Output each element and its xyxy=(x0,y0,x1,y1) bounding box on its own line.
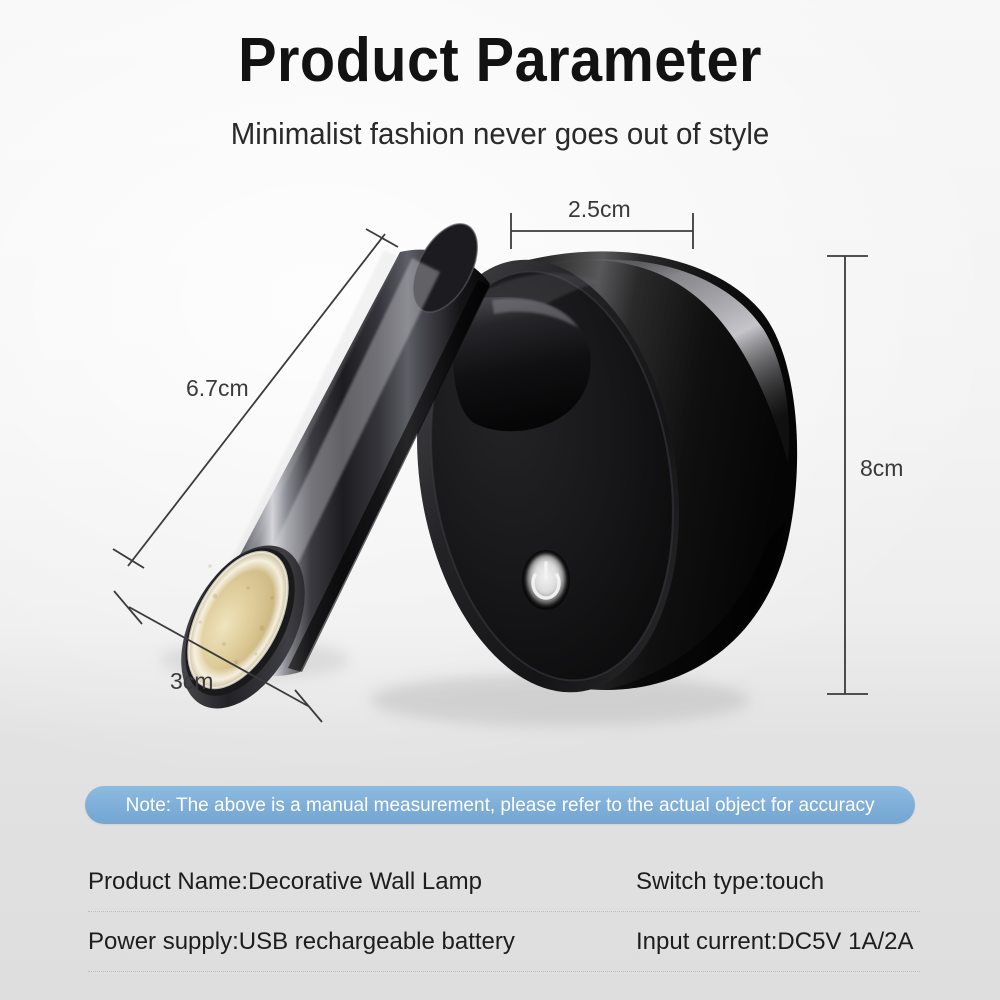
touch-power-button[interactable] xyxy=(522,550,570,610)
measurement-note-text: Note: The above is a manual measurement,… xyxy=(126,794,875,817)
dimension-label-6.7cm: 6.7cm xyxy=(186,375,249,402)
spec-input-current: Input current:DC5V 1A/2A xyxy=(636,928,920,956)
measurement-note-banner: Note: The above is a manual measurement,… xyxy=(85,786,915,824)
spec-switch-type: Switch type:touch xyxy=(636,868,920,896)
spec-table: Product Name:Decorative Wall Lamp Switch… xyxy=(88,852,920,972)
spec-product-name: Product Name:Decorative Wall Lamp xyxy=(88,868,636,896)
dimension-label-8cm: 8cm xyxy=(860,455,903,482)
wall-lamp-product-image xyxy=(0,0,1000,1000)
spec-power-supply: Power supply:USB rechargeable battery xyxy=(88,928,636,956)
spec-row: Power supply:USB rechargeable battery In… xyxy=(88,912,920,972)
spec-row: Product Name:Decorative Wall Lamp Switch… xyxy=(88,852,920,912)
dimension-label-3cm: 3cm xyxy=(170,668,213,695)
dimension-label-2.5cm: 2.5cm xyxy=(568,196,631,223)
